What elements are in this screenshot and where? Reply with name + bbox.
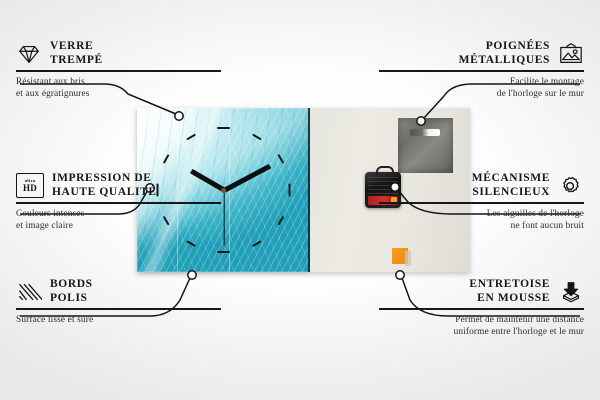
clock-tick — [277, 216, 283, 225]
feature-title: POIGNÉES MÉTALLIQUES — [459, 40, 550, 67]
clock-minute-hand — [222, 164, 270, 192]
gear-icon — [558, 174, 584, 198]
feature-divider — [16, 202, 221, 204]
feature-divider — [16, 308, 221, 310]
feature-description: Résistant aux bris et aux égratignures — [16, 76, 221, 101]
feature-title: MÉCANISME SILENCIEUX — [472, 172, 550, 199]
feature-impression-haute-qualite: ultra HD IMPRESSION DE HAUTE QUALITÉ Cou… — [16, 172, 221, 233]
clock-tick — [277, 154, 283, 163]
clock-tick — [186, 240, 195, 246]
ultra-hd-icon-main-label: HD — [23, 184, 37, 193]
feature-divider — [16, 70, 221, 72]
feature-description: Facilite le montage de l'horloge sur le … — [379, 76, 584, 101]
polished-edges-icon — [16, 280, 42, 304]
feature-title-line2: TREMPÉ — [50, 54, 103, 68]
clock-tick — [217, 127, 230, 129]
feature-title: BORDS POLIS — [50, 278, 93, 305]
foam-spacer-orange — [392, 248, 408, 264]
hanger-slot — [410, 129, 440, 136]
feature-title-line1: MÉCANISME — [472, 172, 550, 186]
feature-title: ENTRETOISE EN MOUSSE — [469, 278, 550, 305]
feature-header: VERRE TREMPÉ — [16, 40, 221, 67]
feature-header: BORDS POLIS — [16, 278, 221, 305]
feature-desc-line2: de l'horloge sur le mur — [379, 88, 584, 100]
clock-tick — [186, 133, 195, 139]
clock-tick — [289, 184, 291, 197]
feature-description: Permet de maintenir une distance uniform… — [379, 314, 584, 339]
feature-divider — [379, 308, 584, 310]
clock-tick — [217, 251, 230, 253]
feature-header: ultra HD IMPRESSION DE HAUTE QUALITÉ — [16, 172, 221, 199]
foam-spacer-arrow-icon — [558, 280, 584, 304]
feature-desc-line1: Résistant aux bris — [16, 76, 221, 88]
feature-entretoise-en-mousse: ENTRETOISE EN MOUSSE Permet de maintenir… — [379, 278, 584, 339]
feature-desc-line1: Facilite le montage — [379, 76, 584, 88]
feature-header: ENTRETOISE EN MOUSSE — [379, 278, 584, 305]
ultra-hd-icon: ultra HD — [16, 173, 44, 198]
feature-description: Les aiguilles de l'horloge ne font aucun… — [379, 208, 584, 233]
feature-title-line2: SILENCIEUX — [472, 186, 550, 200]
feature-divider — [379, 70, 584, 72]
feature-desc-line2: et aux égratignures — [16, 88, 221, 100]
picture-frame-hanger-icon — [558, 42, 584, 66]
feature-title-line1: VERRE — [50, 40, 103, 54]
feature-desc-line2: et image claire — [16, 220, 221, 232]
feature-title-line2: MÉTALLIQUES — [459, 54, 550, 68]
feature-title-line1: POIGNÉES — [459, 40, 550, 54]
feature-header: MÉCANISME SILENCIEUX — [379, 172, 584, 199]
clock-center-hub — [221, 188, 226, 193]
feature-bords-polis: BORDS POLIS Surface lisse et sûre — [16, 278, 221, 326]
feature-desc-line2: ne font aucun bruit — [379, 220, 584, 232]
feature-description: Couleurs intenses et image claire — [16, 208, 221, 233]
feature-title: IMPRESSION DE HAUTE QUALITÉ — [52, 172, 157, 199]
clock-second-hand — [223, 190, 224, 246]
feature-desc-line1: Permet de maintenir une distance — [379, 314, 584, 326]
feature-title-line1: IMPRESSION DE — [52, 172, 157, 186]
feature-title-line2: HAUTE QUALITÉ — [52, 186, 157, 200]
feature-poignees-metalliques: POIGNÉES MÉTALLIQUES Facilite le montage… — [379, 40, 584, 101]
feature-verre-trempe: VERRE TREMPÉ Résistant aux bris et aux é… — [16, 40, 221, 101]
feature-title: VERRE TREMPÉ — [50, 40, 103, 67]
feature-mecanisme-silencieux: MÉCANISME SILENCIEUX Les aiguilles de l'… — [379, 172, 584, 233]
feature-desc-line1: Surface lisse et sûre — [16, 314, 221, 326]
clock-tick — [163, 154, 169, 163]
feature-desc-line2: uniforme entre l'horloge et le mur — [379, 326, 584, 338]
feature-header: POIGNÉES MÉTALLIQUES — [379, 40, 584, 67]
feature-title-line1: ENTRETOISE — [469, 278, 550, 292]
feature-title-line2: POLIS — [50, 292, 93, 306]
infographic-canvas: VERRE TREMPÉ Résistant aux bris et aux é… — [0, 0, 600, 400]
feature-desc-line1: Couleurs intenses — [16, 208, 221, 220]
feature-title-line2: EN MOUSSE — [469, 292, 550, 306]
feature-divider — [379, 202, 584, 204]
feature-description: Surface lisse et sûre — [16, 314, 221, 326]
metal-hanger-plate — [398, 118, 453, 173]
clock-tick — [252, 240, 261, 246]
clock-tick — [252, 133, 261, 139]
feature-title-line1: BORDS — [50, 278, 93, 292]
diamond-icon — [16, 42, 42, 66]
feature-desc-line1: Les aiguilles de l'horloge — [379, 208, 584, 220]
